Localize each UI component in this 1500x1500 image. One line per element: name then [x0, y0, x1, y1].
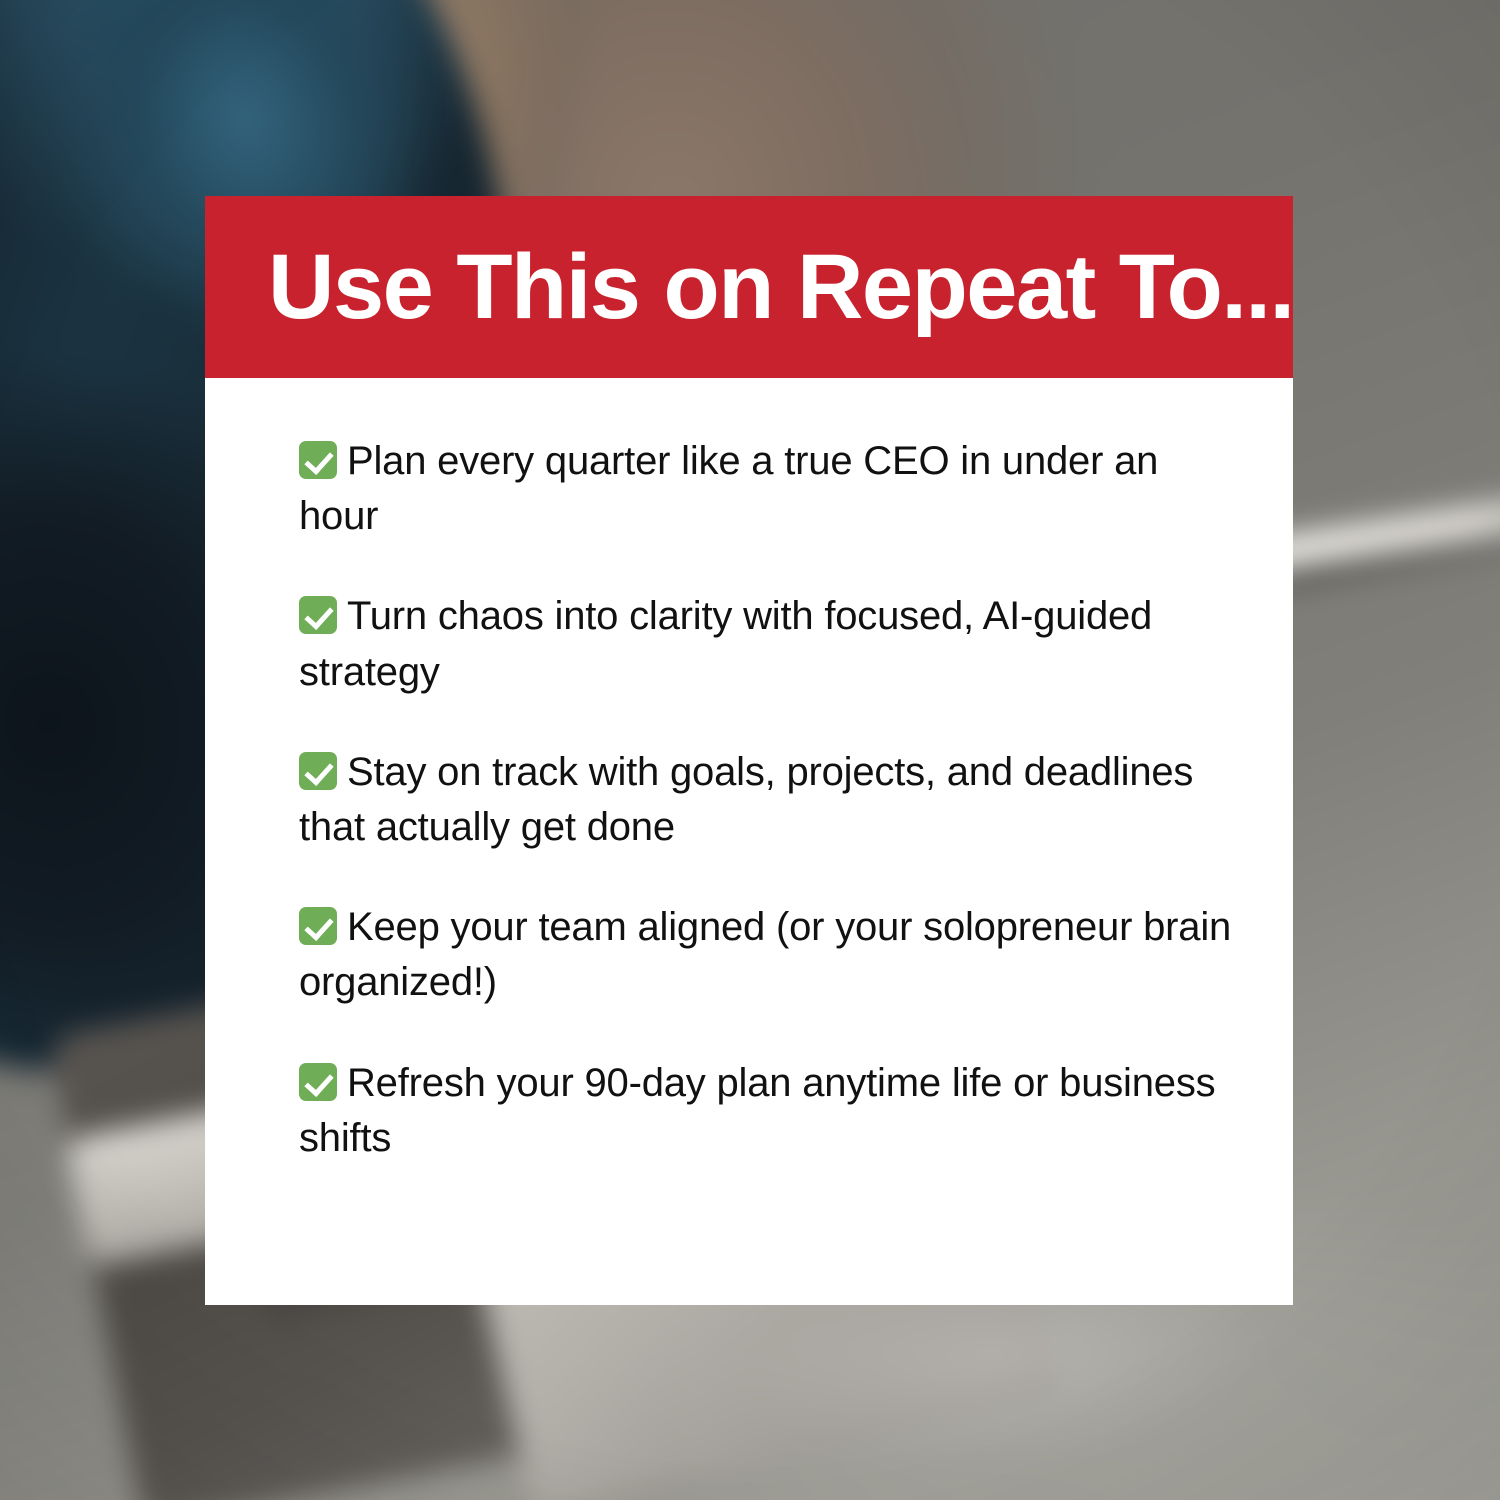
list-item-label: Refresh your 90-day plan anytime life or…: [299, 1061, 1215, 1160]
list-item-label: Plan every quarter like a true CEO in un…: [299, 439, 1158, 538]
list-item: Stay on track with goals, projects, and …: [299, 745, 1233, 855]
benefits-card: Use This on Repeat To... Plan every quar…: [205, 196, 1293, 1305]
green-check-box-icon: [299, 1063, 337, 1101]
green-check-box-icon: [299, 441, 337, 479]
list-item: Refresh your 90-day plan anytime life or…: [299, 1056, 1233, 1166]
page-title: Use This on Repeat To...: [205, 241, 1293, 333]
green-check-box-icon: [299, 596, 337, 634]
benefit-list: Plan every quarter like a true CEO in un…: [299, 434, 1233, 1166]
list-item-label: Stay on track with goals, projects, and …: [299, 750, 1193, 849]
list-item: Turn chaos into clarity with focused, AI…: [299, 589, 1233, 699]
poster-canvas: Use This on Repeat To... Plan every quar…: [0, 0, 1500, 1500]
list-item: Keep your team aligned (or your solopren…: [299, 900, 1233, 1010]
card-header-banner: Use This on Repeat To...: [205, 196, 1293, 378]
green-check-box-icon: [299, 752, 337, 790]
card-body: Plan every quarter like a true CEO in un…: [205, 378, 1293, 1166]
list-item-label: Turn chaos into clarity with focused, AI…: [299, 594, 1152, 693]
list-item: Plan every quarter like a true CEO in un…: [299, 434, 1233, 544]
green-check-box-icon: [299, 907, 337, 945]
list-item-label: Keep your team aligned (or your solopren…: [299, 905, 1231, 1004]
